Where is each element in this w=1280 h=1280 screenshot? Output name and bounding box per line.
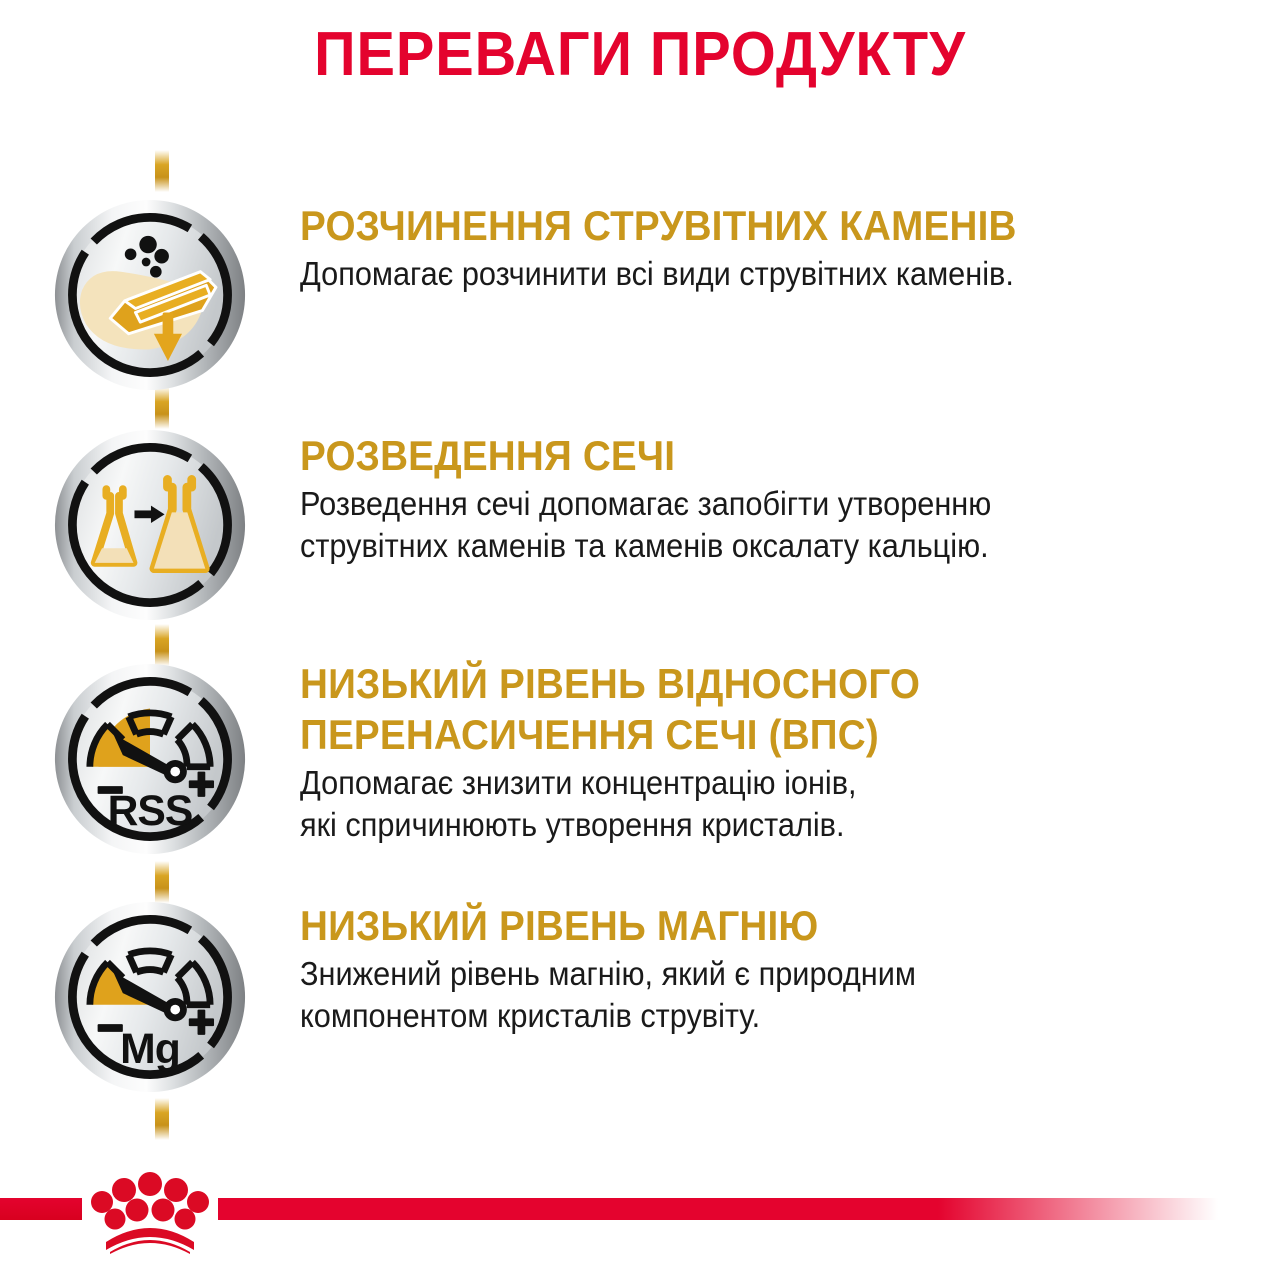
benefit-body-line: Розведення сечі допомагає запобігти утво…: [300, 483, 1156, 525]
footer-bar-left: [0, 1198, 82, 1220]
benefit-text: НИЗЬКИЙ РІВЕНЬ ВІДНОСНОГО ПЕРЕНАСИЧЕННЯ …: [300, 610, 1280, 845]
benefit-body: Знижений рівень магнію, який є природним…: [300, 953, 1156, 1036]
benefit-item-urine-dilution: РОЗВЕДЕННЯ СЕЧІ Розведення сечі допомага…: [0, 380, 1280, 610]
benefit-body-line: компонентом кристалів струвіту.: [300, 995, 1156, 1037]
dissolving-struvite-stone-icon: [53, 198, 247, 392]
benefit-body-line: Знижений рівень магнію, який є природним: [300, 953, 1156, 995]
benefit-body: Допомагає розчинити всі види струвітних …: [300, 253, 1156, 295]
connector-dash: [155, 1098, 169, 1140]
benefits-list: РОЗЧИНЕННЯ СТРУВІТНИХ КАМЕНІВ Допомагає …: [0, 150, 1280, 1080]
benefit-heading: НИЗЬКИЙ РІВЕНЬ МАГНІЮ: [300, 902, 1146, 949]
medallion-slot: [0, 380, 300, 622]
urine-dilution-flasks-icon: [53, 428, 247, 622]
benefit-body-line: струвітних каменів та каменів оксалату к…: [300, 525, 1156, 567]
medallion-slot: Mg: [0, 850, 300, 1094]
benefit-item-low-magnesium: Mg НИЗЬКИЙ РІВЕНЬ МАГНІЮ Знижений рівень…: [0, 850, 1280, 1080]
svg-text:RSS: RSS: [108, 787, 193, 835]
rss-gauge-icon: RSS: [53, 662, 247, 856]
svg-text:Mg: Mg: [120, 1025, 180, 1073]
benefit-body-line: які спричинюють утворення кристалів.: [300, 804, 1156, 846]
royal-canin-crown-logo: [82, 1162, 218, 1254]
benefit-heading-line: НИЗЬКИЙ РІВЕНЬ ВІДНОСНОГО: [300, 660, 1146, 707]
page-title: ПЕРЕВАГИ ПРОДУКТУ: [45, 24, 1235, 86]
footer-bar-right: [218, 1198, 1218, 1220]
footer: [0, 1140, 1280, 1280]
benefit-text: РОЗЧИНЕННЯ СТРУВІТНИХ КАМЕНІВ Допомагає …: [300, 150, 1280, 295]
benefit-heading: РОЗЧИНЕННЯ СТРУВІТНИХ КАМЕНІВ: [300, 202, 1146, 249]
benefit-item-low-rss: RSS НИЗЬКИЙ РІВЕНЬ ВІДНОСНОГО ПЕРЕНАСИЧЕ…: [0, 610, 1280, 850]
medallion-slot: [0, 150, 300, 392]
medallion-slot: RSS: [0, 610, 300, 856]
benefit-heading-line: ПЕРЕНАСИЧЕННЯ СЕЧІ (ВПС): [300, 711, 1146, 758]
benefit-body-line: Допомагає знизити концентрацію іонів,: [300, 762, 1156, 804]
benefit-body-line: Допомагає розчинити всі види струвітних …: [300, 253, 1156, 295]
benefit-body: Розведення сечі допомагає запобігти утво…: [300, 483, 1156, 566]
benefit-item-stone-dissolution: РОЗЧИНЕННЯ СТРУВІТНИХ КАМЕНІВ Допомагає …: [0, 150, 1280, 380]
benefit-body: Допомагає знизити концентрацію іонів, як…: [300, 762, 1156, 845]
benefit-heading: РОЗВЕДЕННЯ СЕЧІ: [300, 432, 1146, 479]
magnesium-gauge-icon: Mg: [53, 900, 247, 1094]
benefit-text: РОЗВЕДЕННЯ СЕЧІ Розведення сечі допомага…: [300, 380, 1280, 566]
benefit-text: НИЗЬКИЙ РІВЕНЬ МАГНІЮ Знижений рівень ма…: [300, 850, 1280, 1036]
